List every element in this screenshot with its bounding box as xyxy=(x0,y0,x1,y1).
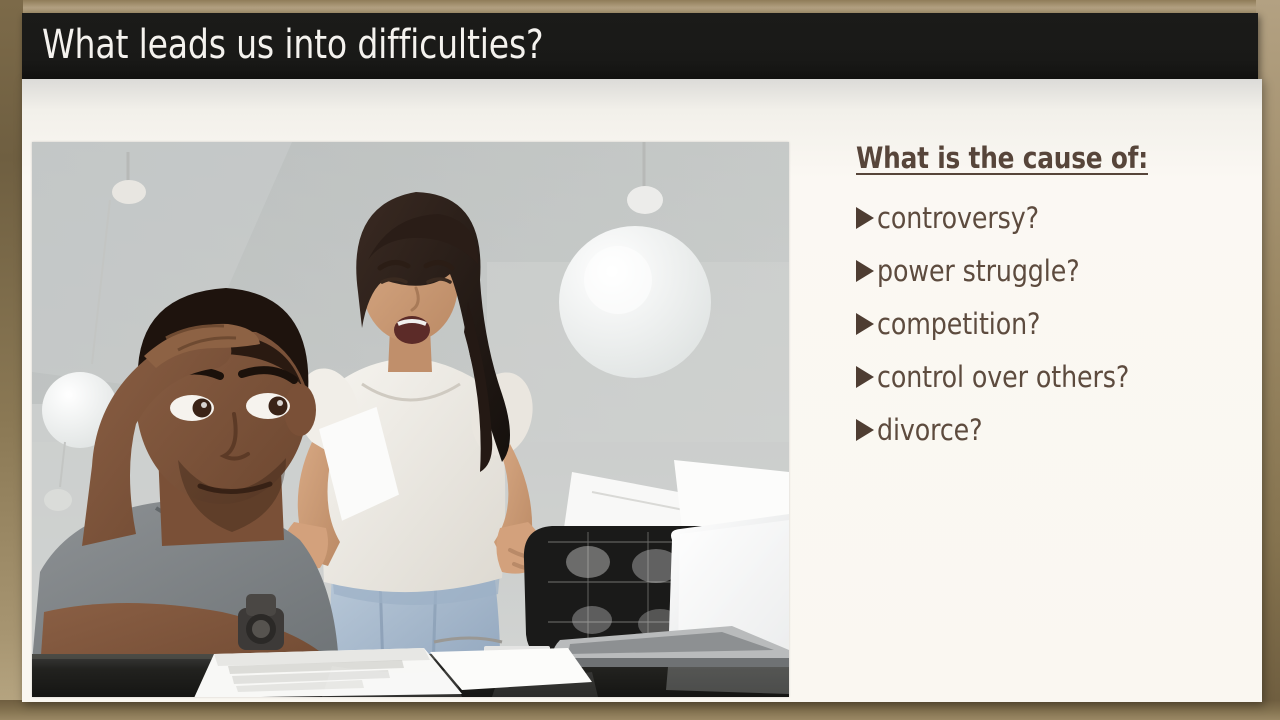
list-item: power struggle? xyxy=(856,244,1246,297)
slide-frame-left xyxy=(0,0,23,720)
triangle-right-icon xyxy=(856,207,874,229)
slide-frame-bottom xyxy=(0,700,1280,720)
list-item-label: control over others? xyxy=(877,360,1129,394)
list-item-label: controversy? xyxy=(877,201,1039,235)
list-item-label: divorce? xyxy=(877,413,982,447)
slide-title: What leads us into difficulties? xyxy=(42,22,543,68)
slide-content-panel: What is the cause of: controversy? power… xyxy=(22,79,1262,702)
triangle-right-icon xyxy=(856,419,874,441)
list-item-label: competition? xyxy=(877,307,1040,341)
triangle-right-icon xyxy=(856,313,874,335)
photo-illustration xyxy=(32,142,789,697)
triangle-right-icon xyxy=(856,260,874,282)
triangle-right-icon xyxy=(856,366,874,388)
slide-photo xyxy=(32,142,789,697)
cause-list-column: What is the cause of: controversy? power… xyxy=(856,141,1246,456)
list-item-label: power struggle? xyxy=(877,254,1080,288)
slide-frame-top xyxy=(0,0,1280,14)
list-item: control over others? xyxy=(856,350,1246,403)
list-item: divorce? xyxy=(856,403,1246,456)
presentation-slide: What leads us into difficulties? xyxy=(0,0,1280,720)
slide-title-bar: What leads us into difficulties? xyxy=(22,13,1258,79)
list-item: controversy? xyxy=(856,191,1246,244)
list-item: competition? xyxy=(856,297,1246,350)
cause-heading: What is the cause of: xyxy=(856,141,1148,175)
